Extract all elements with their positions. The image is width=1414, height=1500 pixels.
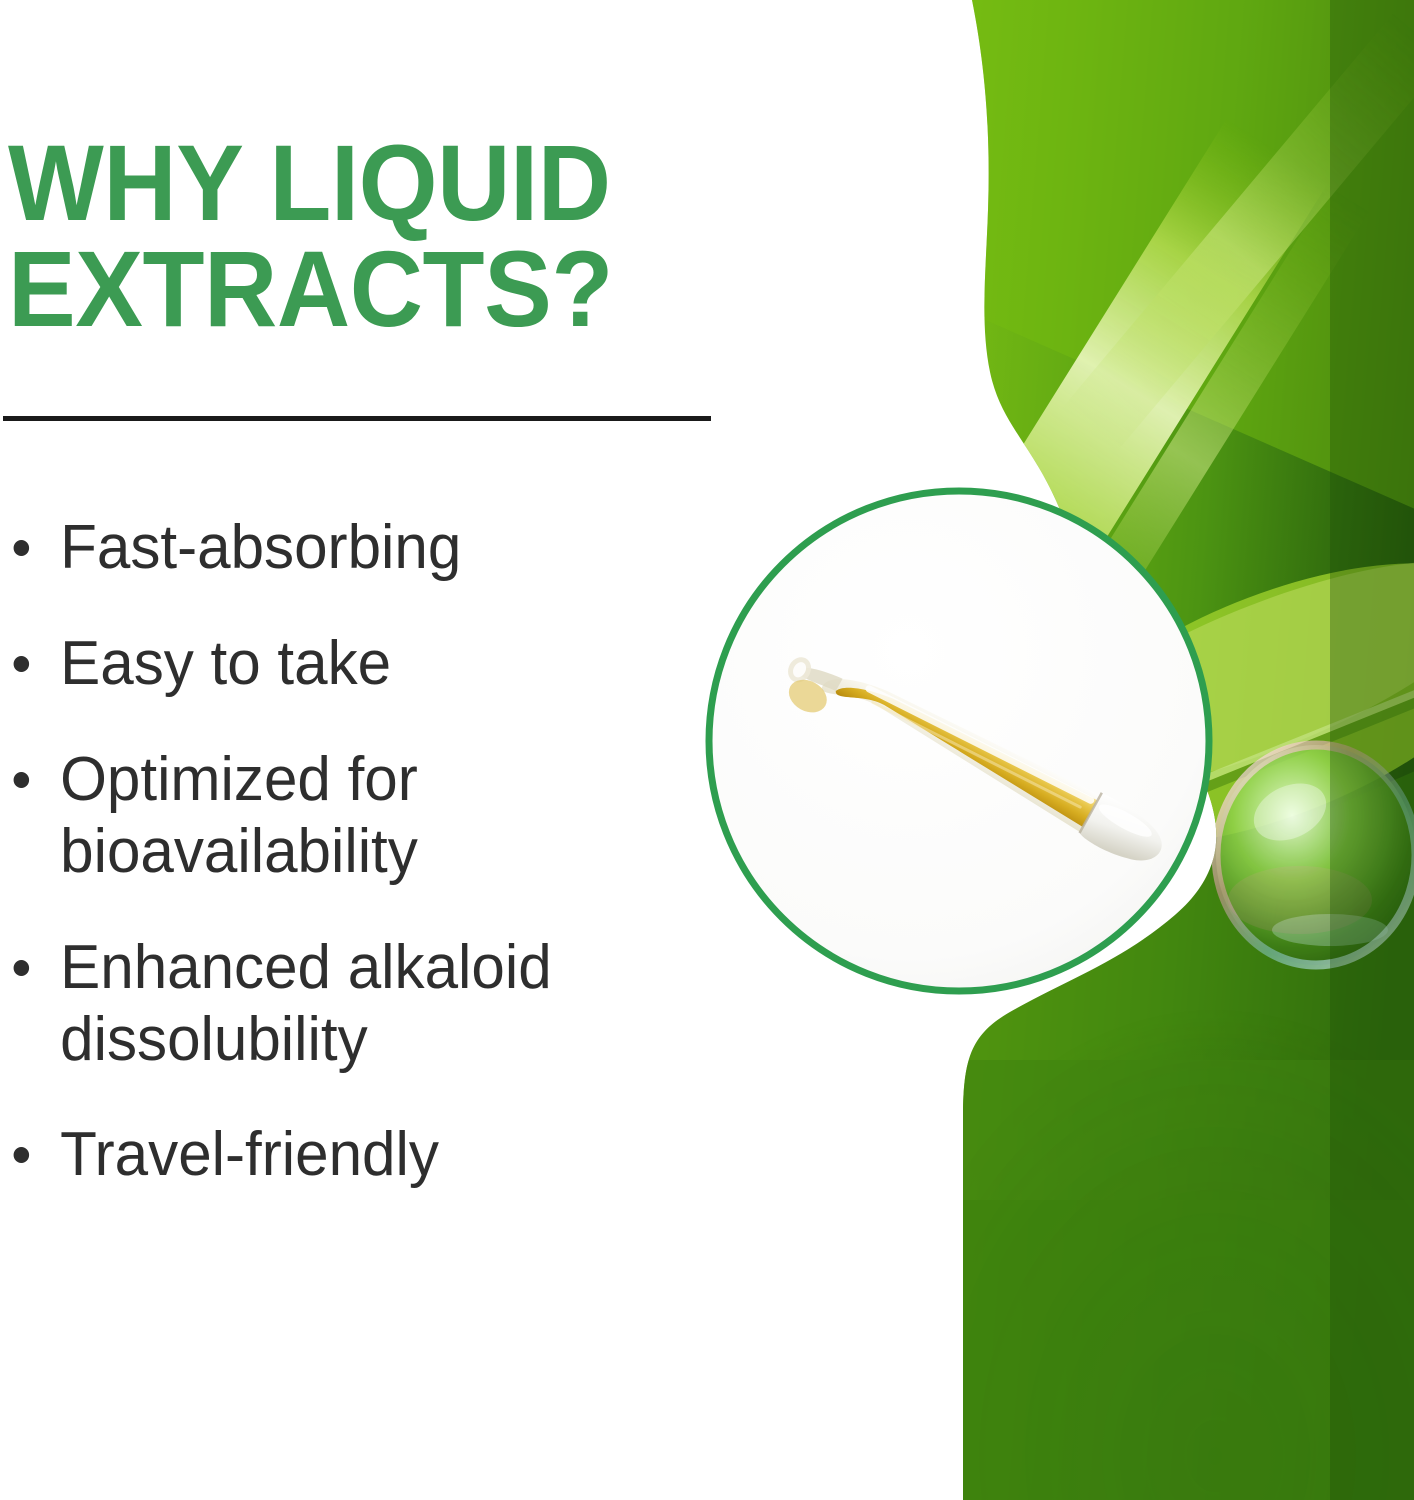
list-item: Optimized for bioavailability (0, 744, 698, 888)
bullet-dot-icon (14, 1147, 30, 1163)
bullet-dot-icon (14, 772, 30, 788)
list-item: Travel-friendly (0, 1119, 698, 1191)
list-item-label: Optimized for bioavailability (60, 745, 418, 886)
bullet-dot-icon (14, 656, 30, 672)
list-item-label: Easy to take (60, 629, 391, 698)
list-item-label: Enhanced alkaloid dissolubility (60, 933, 552, 1074)
list-item: Enhanced alkaloid dissolubility (0, 932, 698, 1076)
bullet-dot-icon (14, 540, 30, 556)
marketing-infographic-page: WHY LIQUID EXTRACTS? Fast-absorbing Easy… (0, 0, 1414, 1500)
page-title: WHY LIQUID EXTRACTS? (8, 130, 704, 342)
dropper-circle-inset (705, 487, 1213, 995)
benefits-list: Fast-absorbing Easy to take Optimized fo… (0, 512, 720, 1235)
text-content-column: WHY LIQUID EXTRACTS? Fast-absorbing Easy… (0, 0, 760, 1500)
bullet-dot-icon (14, 960, 30, 976)
list-item-label: Fast-absorbing (60, 513, 461, 582)
list-item-label: Travel-friendly (60, 1120, 439, 1189)
title-divider-rule (3, 416, 711, 421)
list-item: Fast-absorbing (0, 512, 698, 584)
list-item: Easy to take (0, 628, 698, 700)
